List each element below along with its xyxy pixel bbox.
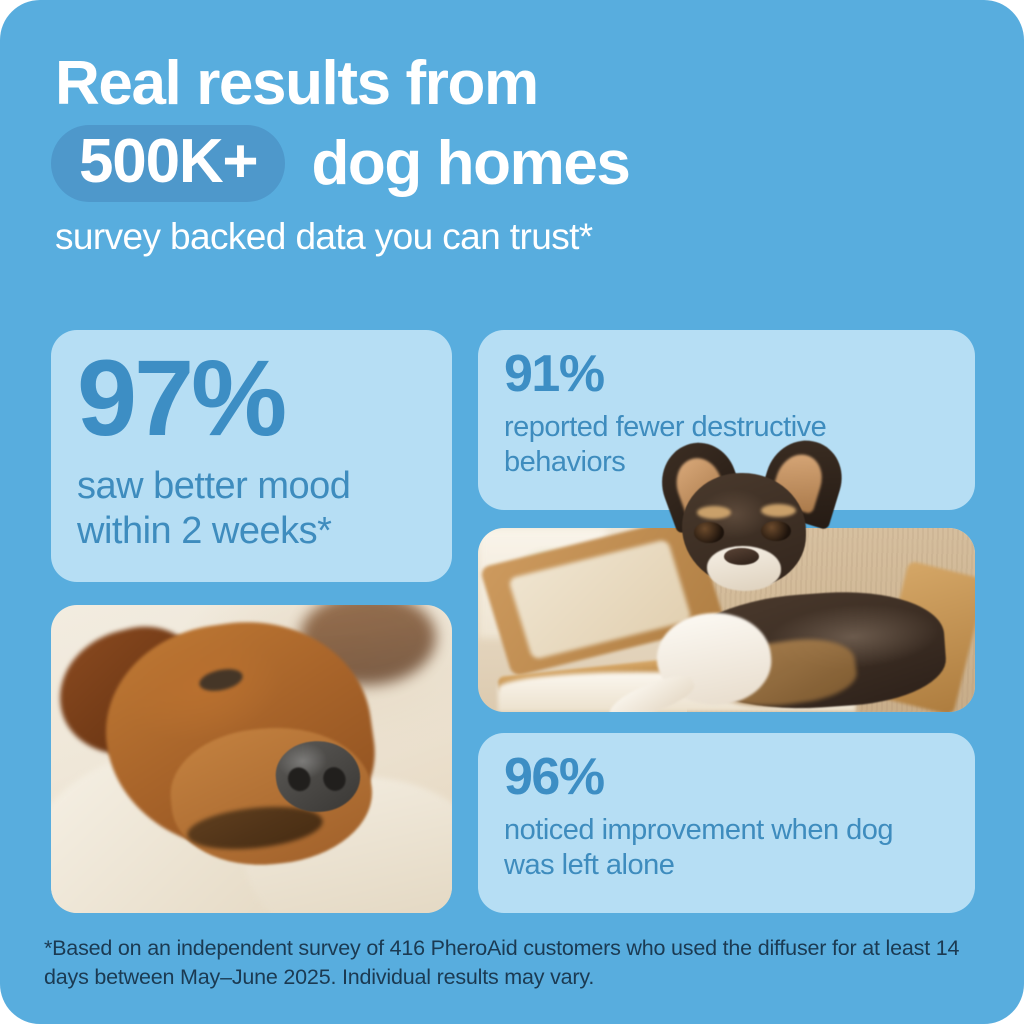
headline-tail: dog homes <box>311 128 629 199</box>
dachshund-photo <box>51 605 452 913</box>
infographic-canvas: Real results from 500K+ dog homes survey… <box>0 0 1024 1024</box>
stat-label-mood: saw better mood within 2 weeks* <box>77 464 426 554</box>
stat-label-left-alone: noticed improvement when dog was left al… <box>504 813 949 883</box>
stat-label-destructive: reported fewer destructive behaviors <box>504 410 949 480</box>
stat-card-left-alone: 96% noticed improvement when dog was lef… <box>478 733 975 913</box>
stat-card-mood: 97% saw better mood within 2 weeks* <box>51 330 452 582</box>
stat-value-left-alone: 96% <box>504 751 949 803</box>
subheadline: survey backed data you can trust* <box>55 216 971 258</box>
header: Real results from 500K+ dog homes survey… <box>51 52 971 258</box>
headline-line-2: 500K+ dog homes <box>51 125 971 202</box>
badge-500k: 500K+ <box>51 125 285 202</box>
stat-value-destructive: 91% <box>504 348 949 400</box>
footnote: *Based on an independent survey of 416 P… <box>44 934 964 992</box>
headline-line-1: Real results from <box>55 52 971 115</box>
stat-card-destructive: 91% reported fewer destructive behaviors <box>478 330 975 510</box>
stat-value-mood: 97% <box>77 344 426 452</box>
